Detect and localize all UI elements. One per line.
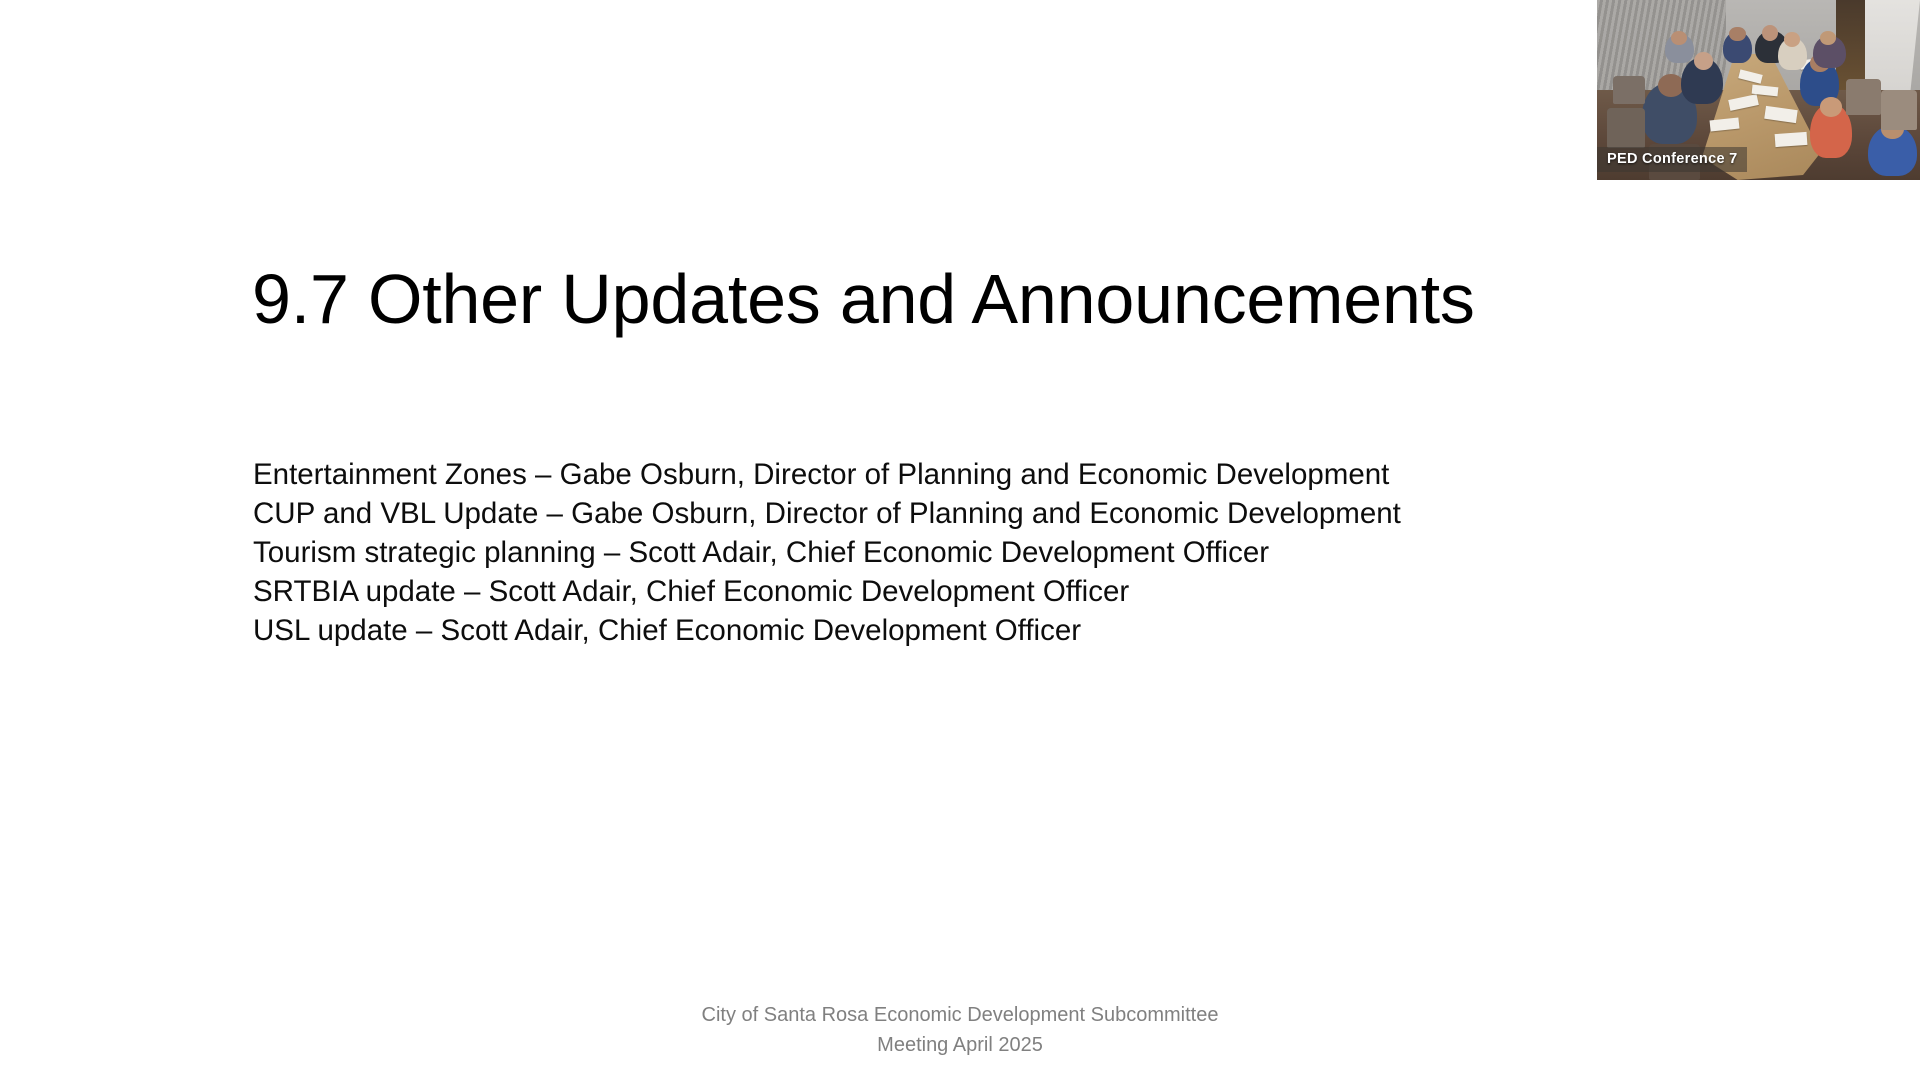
paper: [1774, 132, 1807, 147]
chair: [1613, 76, 1645, 105]
presentation-slide: 9.7 Other Updates and Announcements Ente…: [0, 0, 1920, 1080]
attendee-head: [1729, 27, 1745, 41]
list-item: CUP and VBL Update – Gabe Osburn, Direct…: [253, 494, 1553, 533]
slide-body-list: Entertainment Zones – Gabe Osburn, Direc…: [253, 455, 1553, 650]
chair: [1881, 90, 1917, 130]
list-item: Entertainment Zones – Gabe Osburn, Direc…: [253, 455, 1553, 494]
footer-meeting-date: Meeting April 2025: [0, 1030, 1920, 1060]
attendee-head: [1820, 31, 1836, 45]
footer-organization: City of Santa Rosa Economic Development …: [0, 1000, 1920, 1030]
chair: [1846, 79, 1882, 115]
page-title: 9.7 Other Updates and Announcements: [252, 262, 1652, 338]
slide-footer: City of Santa Rosa Economic Development …: [0, 1000, 1920, 1060]
list-item: SRTBIA update – Scott Adair, Chief Econo…: [253, 572, 1553, 611]
list-item: Tourism strategic planning – Scott Adair…: [253, 533, 1553, 572]
list-item: USL update – Scott Adair, Chief Economic…: [253, 611, 1553, 650]
video-label: PED Conference 7: [1597, 147, 1747, 172]
video-thumbnail[interactable]: PED Conference 7: [1597, 0, 1920, 180]
chair: [1607, 108, 1646, 148]
